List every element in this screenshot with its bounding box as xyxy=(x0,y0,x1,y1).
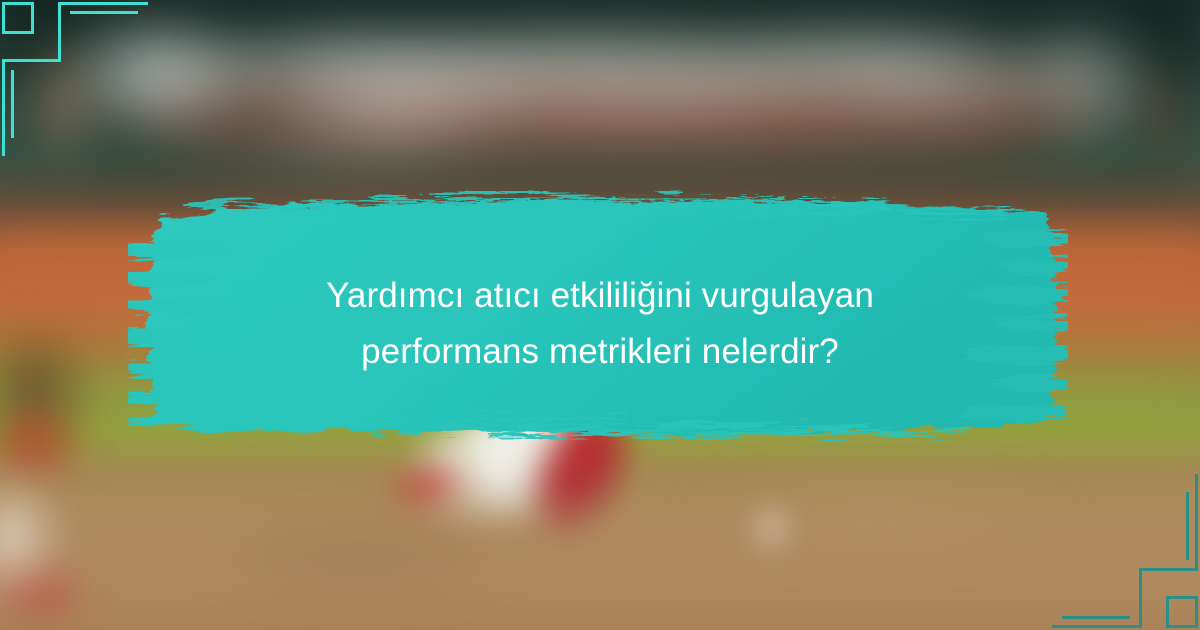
background-crowd-stands xyxy=(0,0,1200,210)
corner-square-icon xyxy=(2,2,34,34)
corner-elbow-horizontal-2 xyxy=(2,59,60,62)
corner-elbow-vertical xyxy=(58,2,61,62)
background-dirt-highlight xyxy=(620,470,1140,560)
corner-accent-vertical-outer xyxy=(1195,474,1198,570)
corner-accent-horizontal xyxy=(70,11,138,14)
corner-accent-vertical-inner xyxy=(1186,492,1189,560)
corner-square-icon xyxy=(1166,596,1198,628)
background-dirt-shadow xyxy=(150,520,570,600)
corner-accent-horizontal xyxy=(1062,616,1130,619)
corner-accent-vertical-inner xyxy=(11,70,14,138)
corner-elbow-horizontal xyxy=(1052,625,1140,628)
corner-accent-vertical-outer xyxy=(2,60,5,156)
background-base-bag xyxy=(745,495,797,561)
corner-elbow-horizontal-2 xyxy=(1140,568,1198,571)
corner-elbow-vertical xyxy=(1139,568,1142,628)
background-player-left xyxy=(0,388,110,628)
corner-elbow-horizontal xyxy=(60,2,148,5)
social-quote-card: Yardımcı atıcı etkililiğini vurgulayan p… xyxy=(0,0,1200,630)
page-title: Yardımcı atıcı etkililiğini vurgulayan p… xyxy=(160,268,1040,380)
